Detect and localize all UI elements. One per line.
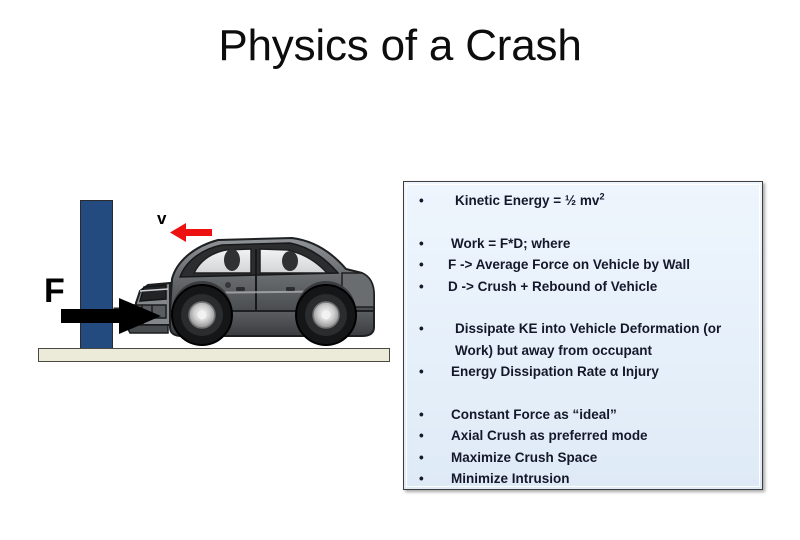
bullet-item: •Kinetic Energy = ½ mv2 <box>414 190 756 212</box>
bullet-item-label: Kinetic Energy = ½ mv2 <box>448 190 756 212</box>
velocity-arrow-icon <box>170 223 212 242</box>
bullet-dot-icon: • <box>419 190 429 212</box>
bullet-item-label: D -> Crush + Rebound of Vehicle <box>448 276 756 298</box>
bullet-list: •Kinetic Energy = ½ mv2•Work = F*D; wher… <box>414 190 756 490</box>
bullet-item: •Dissipate KE into Vehicle Deformation (… <box>414 318 756 361</box>
bullet-dot-icon: • <box>419 318 429 340</box>
bullet-group-spacer <box>414 383 756 404</box>
bullet-group-spacer <box>414 212 756 233</box>
bullet-dot-icon: • <box>419 425 429 447</box>
bullet-item: •D -> Crush + Rebound of Vehicle <box>414 276 756 298</box>
bullet-item: •Minimize Intrusion <box>414 468 756 490</box>
bullet-item-label: Work = F*D; where <box>448 233 756 255</box>
bullet-item-label: Constant Force as “ideal” <box>448 404 756 426</box>
bullet-item-label: Axial Crush as preferred mode <box>448 425 756 447</box>
crash-diagram: F v <box>30 180 400 380</box>
bullet-item-label: Energy Dissipation Rate α Injury <box>448 361 756 383</box>
bullet-dot-icon: • <box>419 276 429 298</box>
bullet-dot-icon: • <box>419 404 429 426</box>
bullet-item: •Energy Dissipation Rate α Injury <box>414 361 756 383</box>
bullet-dot-icon: • <box>419 447 429 469</box>
bullet-dot-icon: • <box>419 254 429 276</box>
bullet-dot-icon: • <box>419 468 429 490</box>
bullet-item: •Axial Crush as preferred mode <box>414 425 756 447</box>
bullet-item: •F -> Average Force on Vehicle by Wall <box>414 254 756 276</box>
bullet-item-label: Dissipate KE into Vehicle Deformation (o… <box>448 318 756 361</box>
bullet-item: •Work = F*D; where <box>414 233 756 255</box>
force-arrow-icon <box>61 298 161 334</box>
bullet-item: •Constant Force as “ideal” <box>414 404 756 426</box>
bullet-item-label: F -> Average Force on Vehicle by Wall <box>448 254 756 276</box>
bullet-superscript: 2 <box>599 192 604 202</box>
velocity-label: v <box>157 210 166 227</box>
bullet-item-label: Minimize Intrusion <box>448 468 756 490</box>
bullet-dot-icon: • <box>419 233 429 255</box>
physics-bullet-textbox: •Kinetic Energy = ½ mv2•Work = F*D; wher… <box>403 181 763 490</box>
bullet-dot-icon: • <box>419 361 429 383</box>
page-title: Physics of a Crash <box>0 18 800 74</box>
ground-strip <box>38 348 390 362</box>
bullet-item-label: Maximize Crush Space <box>448 447 756 469</box>
bullet-group-spacer <box>414 297 756 318</box>
bullet-item: •Maximize Crush Space <box>414 447 756 469</box>
